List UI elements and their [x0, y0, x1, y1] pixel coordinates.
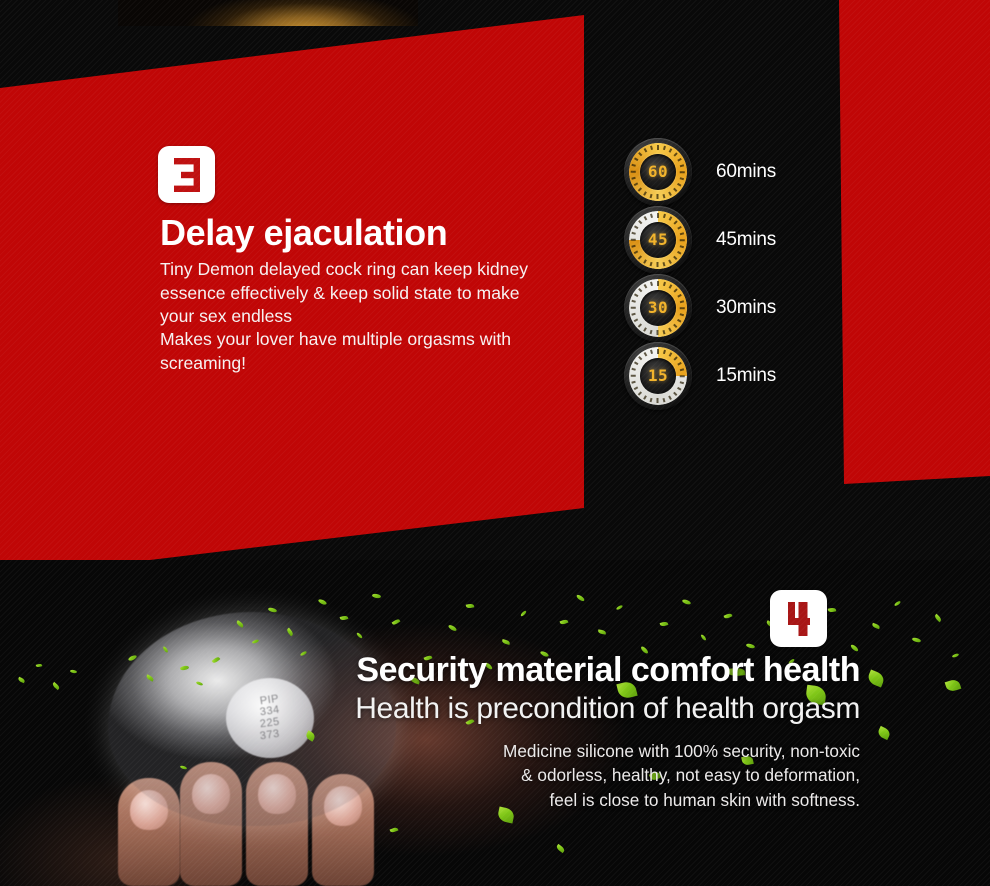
- leaf-icon: [576, 594, 586, 602]
- leaf-icon: [616, 604, 624, 610]
- section-three-headline: Delay ejaculation: [160, 214, 578, 252]
- body-line: Tiny Demon delayed cock ring can keep ki…: [160, 258, 578, 281]
- leaf-icon: [724, 612, 733, 619]
- body-line: essence effectively & keep solid state t…: [160, 282, 578, 305]
- number-badge-3-icon: [158, 146, 215, 203]
- leaf-icon: [682, 599, 692, 606]
- body-line: & odorless, healthy, not easy to deforma…: [0, 763, 860, 787]
- leaf-icon: [934, 614, 942, 622]
- body-line: Makes your lover have multiple orgasms w…: [160, 328, 578, 351]
- leaf-icon: [872, 623, 881, 629]
- timer-dial-icon: 15: [624, 342, 692, 410]
- section-three: Delay ejaculation Tiny Demon delayed coc…: [158, 146, 578, 375]
- leaf-icon: [448, 624, 458, 632]
- leaf-icon: [520, 610, 527, 617]
- leaf-icon: [372, 593, 382, 599]
- timer-row: 45 45mins: [624, 206, 776, 274]
- leaf-icon: [876, 726, 891, 740]
- leaf-icon: [746, 643, 756, 649]
- leaf-icon: [466, 603, 475, 608]
- section-four-text: Security material comfort health Health …: [0, 652, 860, 812]
- timer-row: 15 15mins: [624, 342, 776, 410]
- timer-dial-icon: 30: [624, 274, 692, 342]
- red-panel-right-edge: [830, 0, 990, 490]
- body-line: feel is close to human skin with softnes…: [0, 788, 860, 812]
- timer-label: 45mins: [716, 229, 776, 251]
- leaf-icon: [894, 600, 901, 606]
- timer-label: 60mins: [716, 161, 776, 183]
- dial-readout: 30: [648, 300, 668, 316]
- section-four: PIP 334 225 373 Security ma: [0, 560, 990, 886]
- leaf-icon: [912, 637, 922, 643]
- body-line: screaming!: [160, 352, 578, 375]
- leaf-icon: [700, 634, 707, 641]
- number-badge-4-icon: [770, 590, 827, 647]
- top-photo-fragment: [118, 0, 418, 26]
- leaf-icon: [828, 607, 837, 612]
- section-four-subhead: Health is precondition of health orgasm: [0, 691, 860, 726]
- leaf-icon: [318, 598, 328, 605]
- dial-readout: 60: [648, 164, 668, 180]
- leaf-icon: [555, 844, 565, 853]
- timer-list: 60 60mins 45 45mins 30 30mins: [624, 138, 776, 410]
- timer-row: 60 60mins: [624, 138, 776, 206]
- dial-readout: 15: [648, 368, 668, 384]
- dial-readout: 45: [648, 232, 668, 248]
- section-three-body: Tiny Demon delayed cock ring can keep ki…: [160, 258, 578, 375]
- body-line: your sex endless: [160, 305, 578, 328]
- leaf-icon: [560, 619, 569, 625]
- leaf-icon: [502, 639, 511, 645]
- product-feature-page: Delay ejaculation Tiny Demon delayed coc…: [0, 0, 990, 886]
- body-line: Medicine silicone with 100% security, no…: [0, 739, 860, 763]
- timer-dial-icon: 45: [624, 206, 692, 274]
- section-four-body: Medicine silicone with 100% security, no…: [0, 739, 860, 812]
- timer-label: 15mins: [716, 365, 776, 387]
- timer-label: 30mins: [716, 297, 776, 319]
- timer-dial-icon: 60: [624, 138, 692, 206]
- leaf-icon: [945, 678, 962, 693]
- timer-row: 30 30mins: [624, 274, 776, 342]
- leaf-icon: [598, 629, 607, 634]
- leaf-icon: [866, 669, 886, 687]
- leaf-icon: [952, 653, 960, 658]
- section-four-badge: [770, 590, 827, 647]
- leaf-icon: [660, 621, 669, 627]
- section-four-headline: Security material comfort health: [0, 652, 860, 689]
